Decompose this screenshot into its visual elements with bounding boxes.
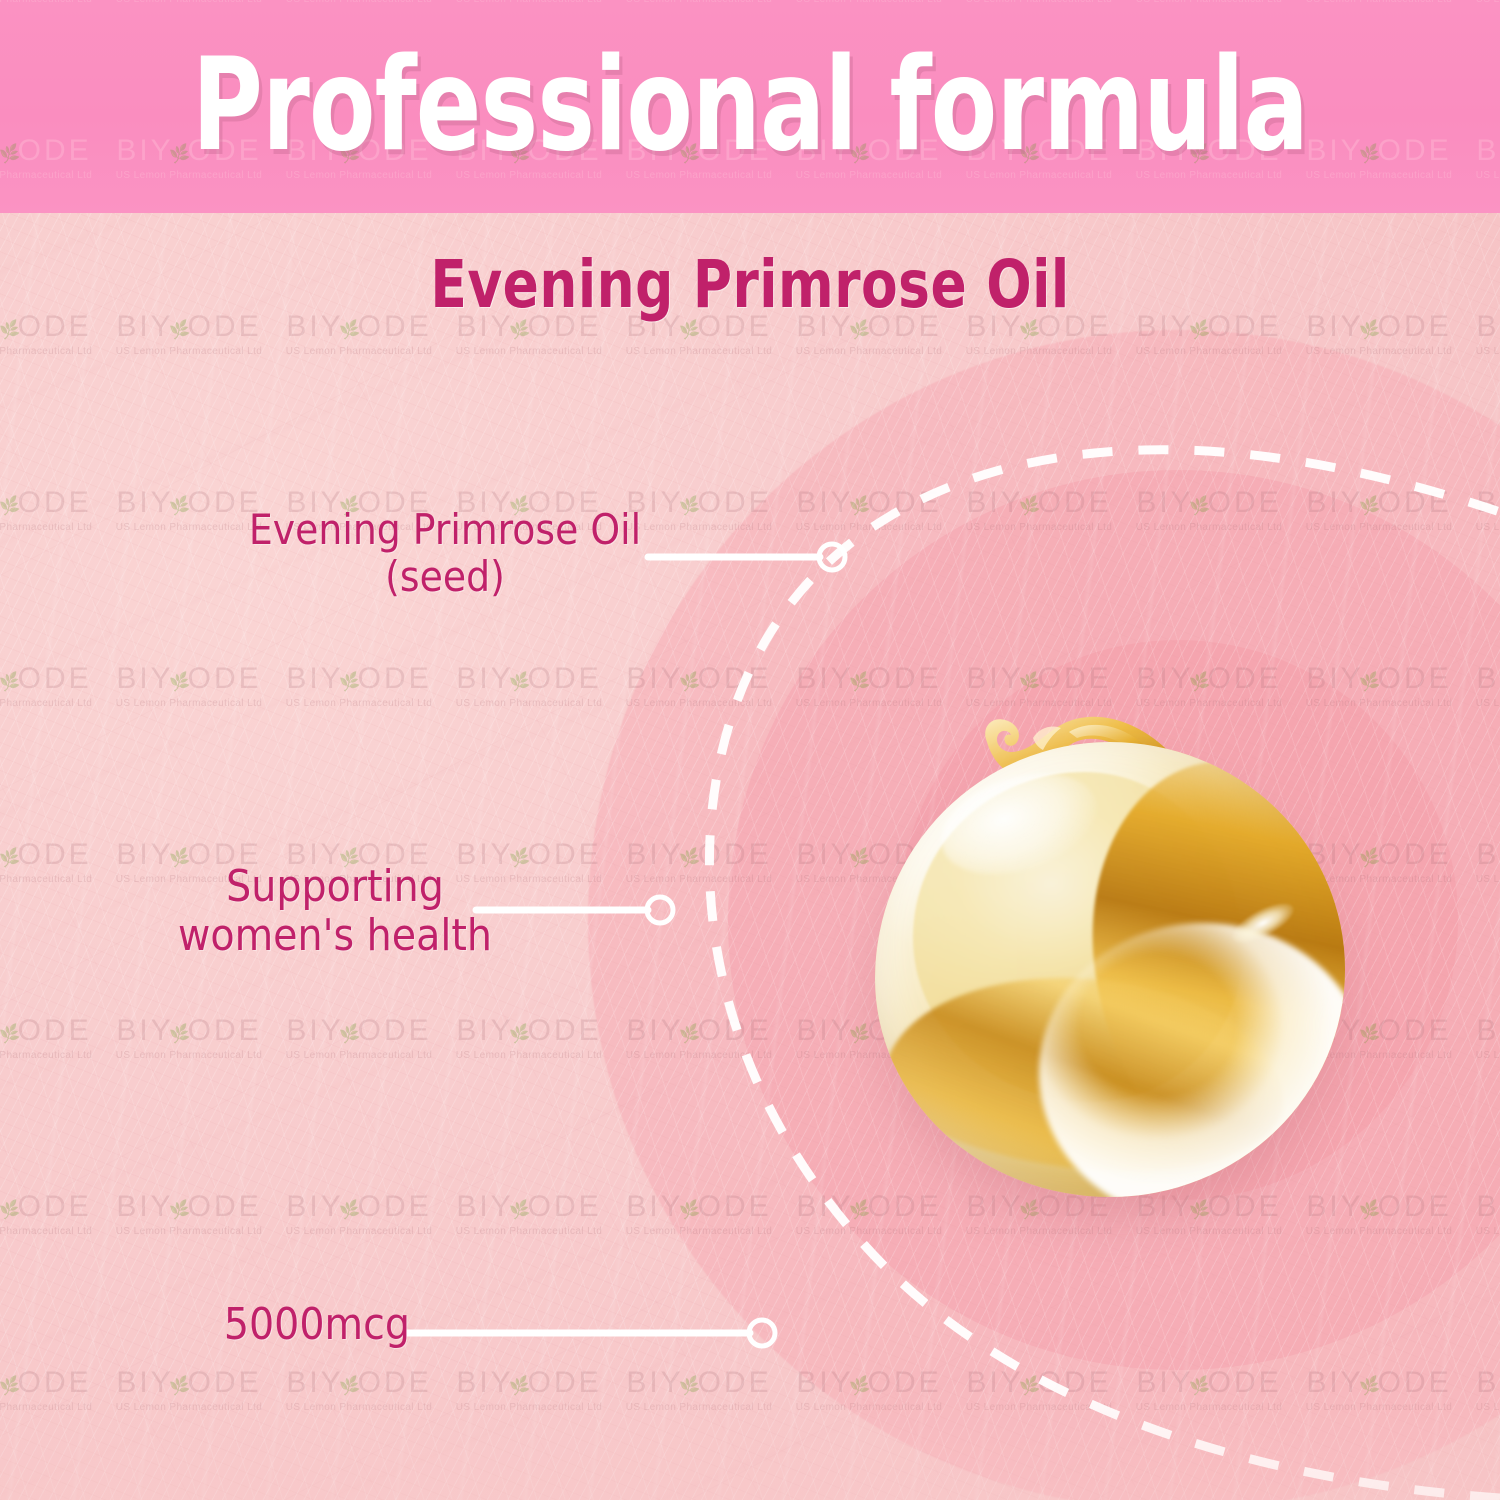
callout-label: Supporting women's health <box>170 862 500 961</box>
overlay-vector-layer <box>0 0 1500 1500</box>
callout-label: 5000mcg <box>150 1300 410 1349</box>
callout-leader-2 <box>406 1320 775 1346</box>
product-infographic-poster: BIYODEUS Lemon Pharmaceutical LtdBIYODEU… <box>0 0 1500 1500</box>
callout-label: Evening Primrose Oil (seed) <box>230 506 660 600</box>
dashed-arc-path <box>709 450 1500 1498</box>
callout-leader-1 <box>476 897 673 923</box>
callout-leader-0 <box>648 544 845 570</box>
